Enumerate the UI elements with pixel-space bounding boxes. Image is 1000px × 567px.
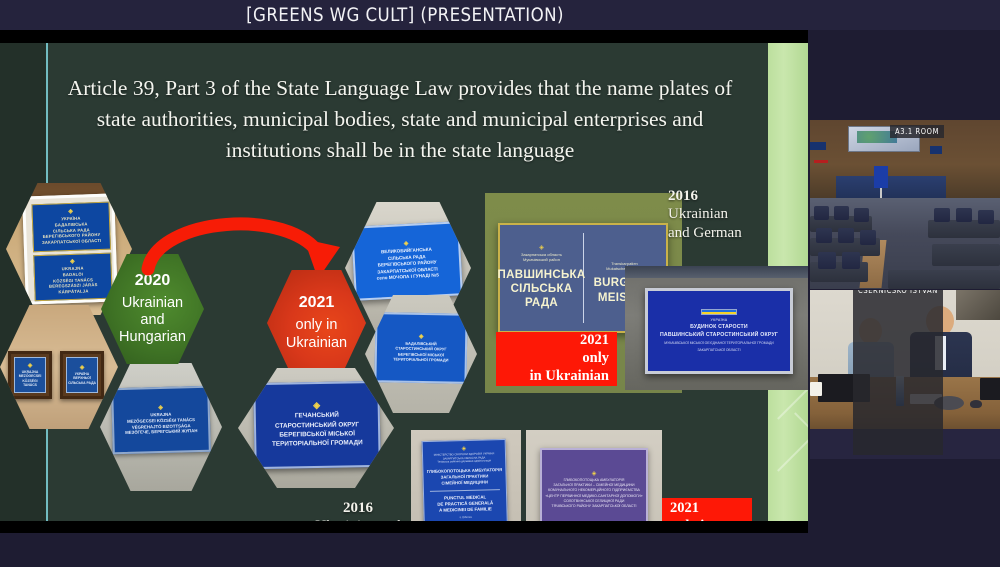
video-speaker-name-label: CSERNICSKÓ ISTVÁN <box>853 290 943 455</box>
room-seat <box>818 252 836 269</box>
photo-granite-starosta-plaque: УКРАЇНА БУДИНОК СТАРОСТИ ПАВШИНСЬКИЙ СТА… <box>625 266 808 390</box>
room-seat <box>934 208 950 222</box>
badge-2021-only-in-ukrainian-bottom: 2021 only in Ukrainian <box>662 498 752 521</box>
slide-canvas: Article 39, Part 3 of the State Language… <box>0 43 808 521</box>
trident-icon: ◈ <box>68 209 73 215</box>
video-feed-speaker[interactable]: CSERNICSKÓ ISTVÁN <box>810 290 1000 459</box>
room-seat <box>854 208 869 222</box>
sign-plate-bilingual: ◈ UKRAJNA MEZŐGECSEI KÖZSÉGI TANÁCS VÉGR… <box>111 386 211 455</box>
sign-plate-ukrainian-only: УКРАЇНА БУДИНОК СТАРОСТИ ПАВШИНСЬКИЙ СТА… <box>645 288 793 374</box>
room-seat <box>842 252 860 269</box>
chevron-right-icon <box>757 412 808 471</box>
sign-divider <box>430 489 500 492</box>
ukraine-flag-icon <box>701 309 737 315</box>
video-feed-room[interactable]: A3.1 ROOM <box>810 120 1000 289</box>
framed-sign-hungarian: ◈ UKRAJNA MEZŐGECSEI KÖZSÉGI TANÁCS <box>8 351 52 399</box>
sign-plate-ukrainian: ◈ ВЕЛИКОБИЙГАНСЬКА СІЛЬСЬКА РАДА БЕРЕГІВ… <box>351 221 463 301</box>
room-desk <box>932 244 1000 266</box>
trident-icon: ◈ <box>158 405 163 411</box>
room-indicator-light <box>814 160 828 163</box>
room-seat <box>956 208 972 222</box>
webcast-window: [GREENS WG CULT] (PRESENTATION) Article … <box>0 0 1000 567</box>
trident-icon: ◈ <box>70 259 75 265</box>
room-seat <box>860 230 876 245</box>
sign-plate-ukrainian: ◈ ГЕЧАНСЬКИЙ СТАРОСТИНСЬКИЙ ОКРУГ БЕРЕГІ… <box>253 381 380 469</box>
photo-hex-gecha-starosta-district: ◈ ГЕЧАНСЬКИЙ СТАРОСТИНСЬКИЙ ОКРУГ БЕРЕГІ… <box>238 368 394 488</box>
room-side-screen <box>930 146 942 154</box>
caption-2016-ukrainian-german: 2016 Ukrainian and German <box>668 187 742 242</box>
trident-icon: ◈ <box>28 363 33 369</box>
trident-icon: ◈ <box>80 365 85 371</box>
trident-icon: ◈ <box>592 471 597 477</box>
trident-icon: ◈ <box>539 245 544 251</box>
video-room-label: A3.1 ROOM <box>890 125 944 138</box>
eu-flag-icon <box>874 166 888 188</box>
laptop-secondary <box>980 378 1000 400</box>
room-side-screen <box>810 142 826 150</box>
room-seat <box>978 210 994 224</box>
slide-headline: Article 39, Part 3 of the State Language… <box>55 73 745 167</box>
presentation-stage: Article 39, Part 3 of the State Language… <box>0 30 808 533</box>
trident-icon: ◈ <box>404 241 409 247</box>
video-column-bottom-filler <box>810 459 1000 567</box>
room-seat <box>814 206 829 220</box>
computer-mouse <box>970 400 982 408</box>
sign-plate-ukrainian-only: ◈ ГЛИБОКОПОТОЦЬКА АМБУЛАТОРІЯ ЗАГАЛЬНОЇ … <box>540 448 648 521</box>
photo-ukrainian-romanian-medical-sign: ◈ МІНІСТЕРСТВО ОХОРОНИ ЗДОРОВ'Я УКРАЇНИ … <box>411 430 521 521</box>
trident-icon: ◈ <box>313 401 320 410</box>
framed-sign-ukrainian: ◈ УКРАЇНА ВЕРХНЬОЇ СІЛЬСЬКА РАДА <box>60 351 104 399</box>
caption-2016-ukrainian-romanian: 2016 Ukrainian and Romanian <box>297 499 419 521</box>
session-title: [GREENS WG CULT] (PRESENTATION) <box>0 0 810 30</box>
sign-plate-hungarian: ◈ UKRAJNA BADALÓI KÖZSÉGI TANÁCS BEREGSZ… <box>33 253 113 302</box>
photo-violet-ukrainian-only-sign: ◈ ГЛИБОКОПОТОЦЬКА АМБУЛАТОРІЯ ЗАГАЛЬНОЇ … <box>526 430 662 521</box>
room-seat <box>838 228 854 243</box>
sign-plate-ukrainian: ◈ БАДАЛІВСЬКИЙ СТАРОСТИНСЬКИЙ ОКРУГ БЕРЕ… <box>374 312 467 384</box>
room-podium <box>836 176 946 198</box>
sign-text-ukrainian: ПАВШИНСЬКА СІЛЬСЬКА РАДА <box>498 268 586 311</box>
trident-icon: ◈ <box>419 334 424 340</box>
room-desk <box>888 270 1000 289</box>
room-seat <box>834 206 849 220</box>
video-column-top-filler <box>810 30 1000 120</box>
photo-hex-gecha-executive-committee: ◈ UKRAJNA MEZŐGECSEI KÖZSÉGI TANÁCS VÉGR… <box>100 363 222 491</box>
sign-plate-ukrainian: ◈ УКРАЇНА БАДАЛІВСЬКА СІЛЬСЬКА РАДА БЕРЕ… <box>31 202 111 253</box>
room-seat <box>816 228 832 243</box>
sign-plate-bilingual-romanian: ◈ МІНІСТЕРСТВО ОХОРОНИ ЗДОРОВ'Я УКРАЇНИ … <box>422 439 509 521</box>
badge-2021-only-in-ukrainian: 2021 only in Ukrainian <box>496 332 617 386</box>
webcast-header-bar: [GREENS WG CULT] (PRESENTATION) <box>0 0 1000 30</box>
papers <box>810 382 822 396</box>
trident-icon: ◈ <box>461 446 466 452</box>
